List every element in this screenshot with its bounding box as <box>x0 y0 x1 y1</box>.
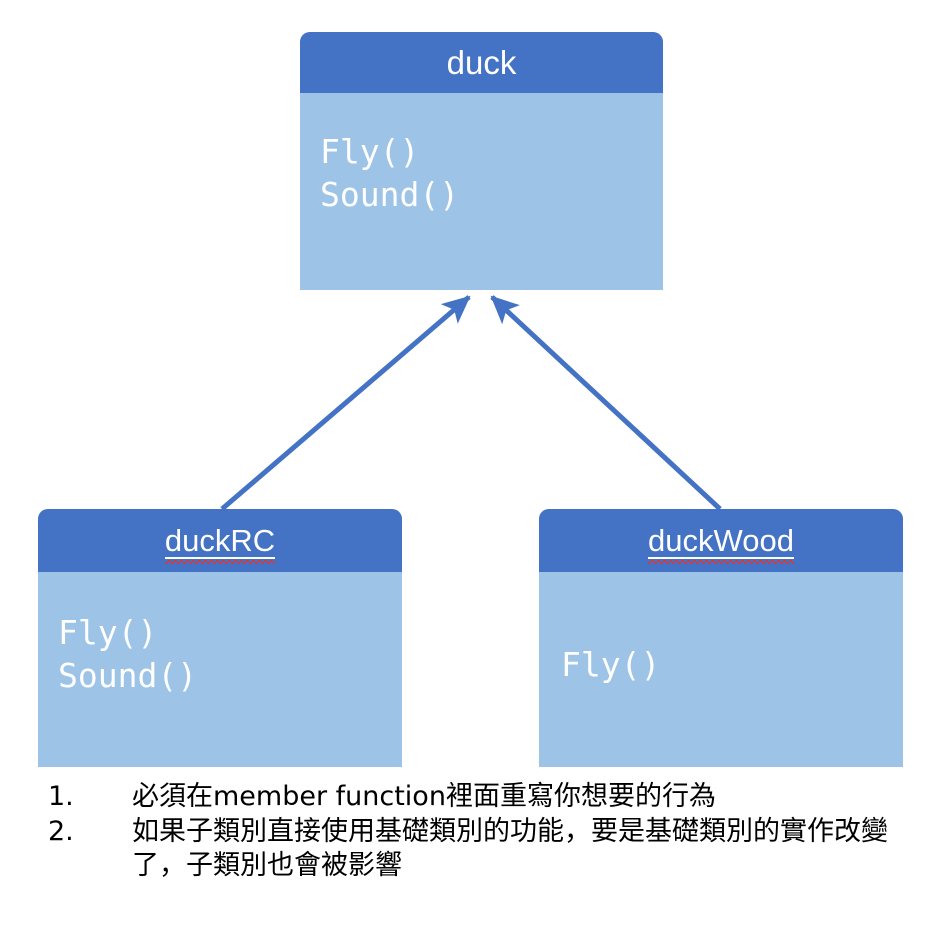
class-methods-duckrc: Fly() Sound() <box>38 572 402 698</box>
class-title-duckwood-text: duckWood <box>648 523 794 558</box>
class-header-duck: duck <box>300 32 663 93</box>
class-header-duckrc: duckRC <box>38 509 402 572</box>
class-methods-duck: Fly() Sound() <box>300 93 663 217</box>
list-item: 2. 如果子類別直接使用基礎類別的功能，要是基礎類別的實作改變了，子類別也會被影… <box>48 815 928 884</box>
list-item-text: 如果子類別直接使用基礎類別的功能，要是基礎類別的實作改變了，子類別也會被影響 <box>132 815 928 884</box>
notes-list: 1. 必須在member function裡面重寫你想要的行為 2. 如果子類別… <box>48 780 928 884</box>
connector-duckrc-to-duck <box>222 297 469 509</box>
class-header-duckwood: duckWood <box>539 509 903 572</box>
class-title-duck: duck <box>447 44 517 82</box>
class-title-duckrc: duckRC <box>165 523 275 559</box>
list-item-number: 2. <box>48 815 132 850</box>
list-item: 1. 必須在member function裡面重寫你想要的行為 <box>48 780 928 815</box>
spellcheck-squiggle-icon <box>165 560 275 564</box>
class-title-duckrc-text: duckRC <box>165 523 275 558</box>
class-box-duckwood[interactable]: duckWood Fly() <box>539 509 903 767</box>
list-item-number: 1. <box>48 780 132 815</box>
class-methods-duckwood: Fly() <box>539 572 903 687</box>
class-box-duck[interactable]: duck Fly() Sound() <box>300 32 663 290</box>
connector-duckwood-to-duck <box>492 297 720 509</box>
class-box-duckrc[interactable]: duckRC Fly() Sound() <box>38 509 402 767</box>
class-title-duckwood: duckWood <box>648 523 794 559</box>
diagram-canvas: duck Fly() Sound() duckRC Fly() Sound() … <box>0 0 939 940</box>
list-item-text: 必須在member function裡面重寫你想要的行為 <box>132 780 928 815</box>
spellcheck-squiggle-icon <box>648 560 794 564</box>
